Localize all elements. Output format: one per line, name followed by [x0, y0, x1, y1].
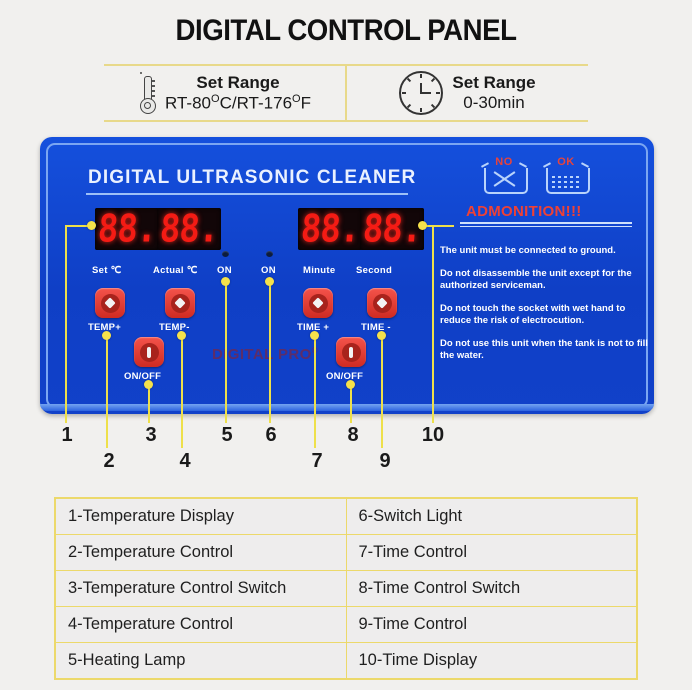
admonition-rule-top	[460, 222, 632, 224]
table-row: 3-Temperature Control Switch 8-Time Cont…	[55, 571, 637, 607]
spec-timer-line2: 0-30min	[452, 93, 535, 113]
ok-tank-label: OK	[546, 156, 586, 168]
legend-cell: 2-Temperature Control	[55, 535, 346, 571]
callout-number-5: 5	[212, 424, 242, 447]
callout-dot-1	[87, 221, 96, 230]
second-label: Second	[356, 265, 392, 276]
spec-temp-line1: Set Range	[165, 73, 311, 93]
ok-tank-icon: OK	[546, 160, 586, 194]
minute-label: Minute	[303, 265, 335, 276]
actual-temp-value: 88.	[159, 210, 220, 248]
callout-line-1	[65, 225, 67, 423]
no-tank-label: NO	[484, 156, 524, 168]
set-temp-value: 88.	[97, 210, 158, 248]
legend-cell: 6-Switch Light	[346, 498, 637, 535]
panel-brand-label: DIGITAL ULTRASONIC CLEANER	[88, 167, 416, 189]
set-temp-label: Set ℃	[92, 265, 122, 276]
admonition-list: The unit must be connected to ground. Do…	[440, 245, 648, 373]
heating-lamp-label: ON	[217, 265, 232, 276]
panel-bottom-bar	[40, 404, 654, 411]
callout-dot-4	[177, 331, 186, 340]
admonition-line: Do not use this unit when the tank is no…	[440, 338, 648, 363]
second-display: 88.	[360, 208, 424, 250]
diamond-icon	[171, 294, 190, 313]
time-up-button[interactable]	[303, 288, 333, 318]
callout-line-10b	[424, 225, 454, 227]
callout-line-8	[350, 384, 352, 423]
thermometer-icon	[138, 72, 156, 114]
power-icon	[342, 343, 361, 362]
legend-cell: 9-Time Control	[346, 607, 637, 643]
callout-dot-6	[265, 277, 274, 286]
spec-item-timer: Set Range 0-30min	[347, 66, 588, 120]
legend-cell: 4-Temperature Control	[55, 607, 346, 643]
callout-number-6: 6	[256, 424, 286, 447]
minute-value: 88.	[300, 210, 361, 248]
set-temp-display: 88.	[95, 208, 159, 250]
callout-number-9: 9	[370, 450, 400, 473]
callout-line-7	[314, 335, 316, 448]
diamond-icon	[101, 294, 120, 313]
panel-brand-rule	[86, 193, 408, 195]
legend-cell: 5-Heating Lamp	[55, 643, 346, 680]
second-value: 88.	[362, 210, 423, 248]
diamond-icon	[309, 294, 328, 313]
callout-line-9	[381, 335, 383, 448]
spec-bar: Set Range RT-80OC/RT-176OF Set Range 0-3…	[104, 64, 588, 122]
spec-item-temperature: Set Range RT-80OC/RT-176OF	[104, 66, 347, 120]
admonition-rule-bottom	[460, 226, 632, 227]
legend-table: 1-Temperature Display 6-Switch Light 2-T…	[54, 497, 638, 680]
callout-dot-7	[310, 331, 319, 340]
spec-timer-line1: Set Range	[452, 73, 535, 93]
diamond-icon	[373, 294, 392, 313]
legend-cell: 1-Temperature Display	[55, 498, 346, 535]
callout-number-3: 3	[136, 424, 166, 447]
callout-line-6	[269, 281, 271, 423]
callout-dot-2	[102, 331, 111, 340]
callout-line-2	[106, 335, 108, 448]
callout-number-10: 10	[418, 424, 448, 447]
legend-cell: 10-Time Display	[346, 643, 637, 680]
time-onoff-button[interactable]	[336, 337, 366, 367]
time-down-button[interactable]	[367, 288, 397, 318]
callout-line-4	[181, 335, 183, 448]
switch-light-indicator	[266, 251, 273, 257]
callout-number-7: 7	[302, 450, 332, 473]
temp-down-label: TEMP-	[159, 322, 190, 333]
temp-up-button[interactable]	[95, 288, 125, 318]
legend-cell: 8-Time Control Switch	[346, 571, 637, 607]
switch-light-label: ON	[261, 265, 276, 276]
callout-line-3	[148, 384, 150, 423]
callout-number-2: 2	[94, 450, 124, 473]
minute-display: 88.	[298, 208, 362, 250]
table-row: 1-Temperature Display 6-Switch Light	[55, 498, 637, 535]
callout-number-1: 1	[52, 424, 82, 447]
callout-dot-5	[221, 277, 230, 286]
temp-down-button[interactable]	[165, 288, 195, 318]
callout-number-4: 4	[170, 450, 200, 473]
heating-lamp-indicator	[222, 251, 229, 257]
actual-temp-display: 88.	[157, 208, 221, 250]
legend-cell: 3-Temperature Control Switch	[55, 571, 346, 607]
admonition-line: The unit must be connected to ground.	[440, 245, 648, 258]
table-row: 5-Heating Lamp 10-Time Display	[55, 643, 637, 680]
callout-dot-8	[346, 380, 355, 389]
callout-dot-3	[144, 380, 153, 389]
admonition-line: Do not disassemble the unit except for t…	[440, 268, 648, 293]
page-title: DIGITAL CONTROL PANEL	[28, 14, 665, 48]
callout-number-8: 8	[338, 424, 368, 447]
table-row: 2-Temperature Control 7-Time Control	[55, 535, 637, 571]
power-icon	[140, 343, 159, 362]
callout-dot-10	[418, 221, 427, 230]
time-onoff-label: ON/OFF	[326, 371, 363, 382]
callout-dot-9	[377, 331, 386, 340]
temp-onoff-button[interactable]	[134, 337, 164, 367]
legend-cell: 7-Time Control	[346, 535, 637, 571]
spec-temp-line2: RT-80OC/RT-176OF	[165, 93, 311, 114]
actual-temp-label: Actual ℃	[153, 265, 198, 276]
clock-icon	[399, 71, 443, 115]
no-tank-icon: NO	[484, 160, 524, 194]
temp-onoff-label: ON/OFF	[124, 371, 161, 382]
callout-line-10	[432, 225, 434, 423]
callout-line-5	[225, 281, 227, 423]
admonition-heading: ADMONITION!!!	[466, 203, 582, 220]
brand-watermark: DIGITAL PRO®	[212, 346, 318, 363]
table-row: 4-Temperature Control 9-Time Control	[55, 607, 637, 643]
admonition-line: Do not touch the socket with wet hand to…	[440, 303, 648, 328]
time-down-label: TIME -	[361, 322, 391, 333]
